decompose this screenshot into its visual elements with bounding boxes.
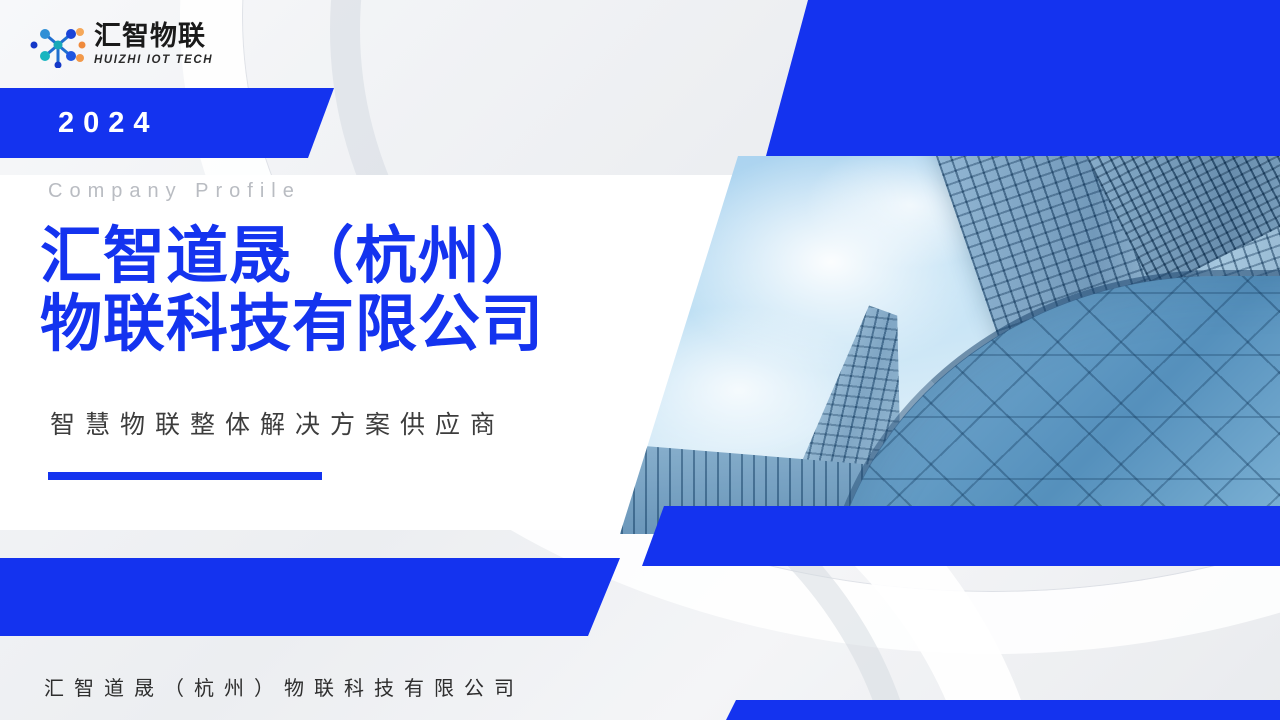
blue-shape-mid-right [642, 506, 1280, 566]
year-badge: 2024 [0, 88, 334, 158]
blue-shape-top-right [766, 0, 1280, 156]
logo-text-block: 汇智物联 HUIZHI IOT TECH [94, 23, 213, 67]
footer-company-name: 汇智道晟（杭州）物联科技有限公司 [44, 672, 524, 701]
eyebrow-label: Company Profile [48, 180, 301, 203]
logo-name-en: HUIZHI IOT TECH [94, 55, 213, 67]
molecule-network-icon [30, 22, 86, 68]
year-badge-label: 2024 [58, 107, 159, 140]
blue-shape-bottom-right [726, 700, 1280, 720]
blue-shape-bottom-left [0, 558, 620, 636]
page-title: 汇智道晟（杭州） 物联科技有限公司 [40, 222, 680, 358]
slide-canvas: 2024 [0, 0, 1280, 720]
logo-name-cn: 汇智物联 [94, 23, 213, 50]
title-underline-rule [48, 472, 322, 480]
subtitle-tagline: 智慧物联整体解决方案供应商 [50, 405, 505, 441]
company-logo[interactable]: 汇智物联 HUIZHI IOT TECH [30, 22, 213, 68]
